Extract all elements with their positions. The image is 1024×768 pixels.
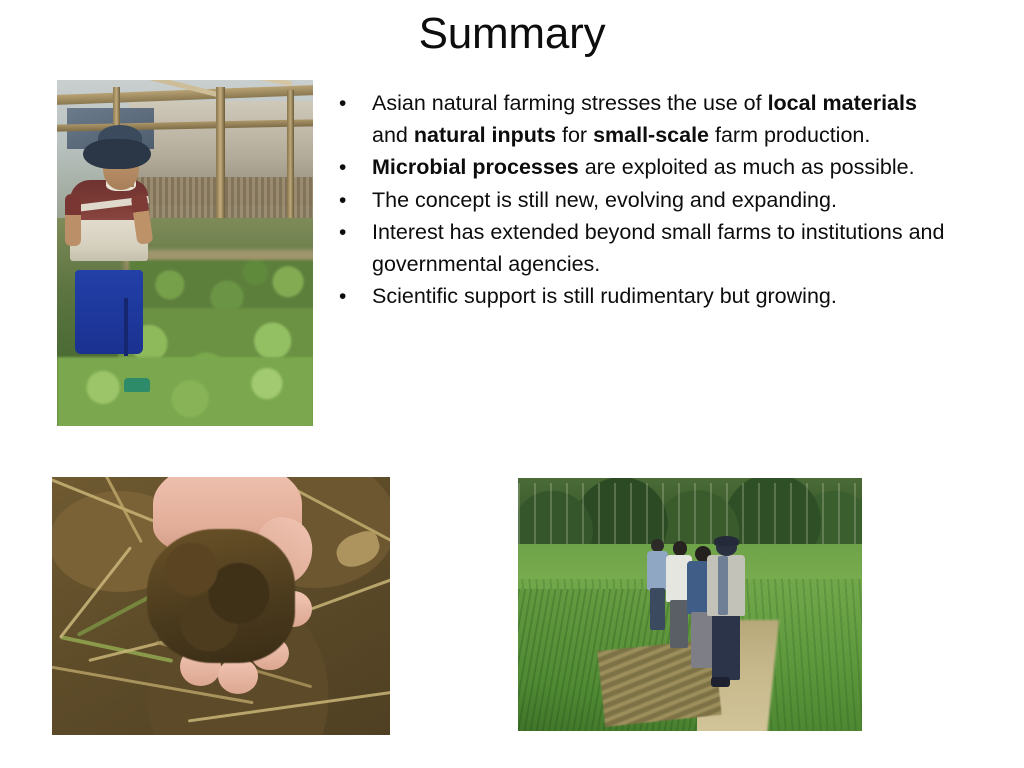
bullet-segment-bold: Microbial processes: [372, 155, 579, 179]
bullet-text: Scientific support is still rudimentary …: [372, 281, 958, 313]
hand-finger: [218, 658, 259, 694]
farmer-boot: [124, 378, 150, 392]
bullet-segment-bold: small-scale: [593, 123, 709, 147]
person-head: [651, 539, 664, 553]
list-item: • Scientific support is still rudimentar…: [334, 281, 958, 313]
vegetable-bed-front: [57, 357, 313, 426]
bullet-segment-bold: natural inputs: [414, 123, 556, 147]
image-rice-field-visit: [518, 478, 862, 731]
person-torso: [647, 551, 668, 589]
bullet-marker-icon: •: [334, 185, 372, 217]
person-shoe: [711, 677, 730, 687]
bullet-text: Asian natural farming stresses the use o…: [372, 88, 958, 151]
bullet-segment: farm production.: [709, 123, 870, 147]
person-head: [673, 541, 688, 556]
farmer-arm-left: [65, 194, 81, 246]
list-item: • Asian natural farming stresses the use…: [334, 88, 958, 151]
bullet-marker-icon: •: [334, 281, 372, 313]
bullet-list: • Asian natural farming stresses the use…: [334, 88, 958, 314]
bullet-marker-icon: •: [334, 217, 372, 249]
bullet-segment: The concept is still new, evolving and e…: [372, 188, 837, 212]
person-nearest: [707, 539, 745, 686]
image-compost-in-hand: [52, 477, 390, 735]
bullet-segment-bold: local materials: [768, 91, 917, 115]
tree-trunks: [518, 483, 862, 549]
person-cap: [714, 536, 739, 546]
bullet-segment: Interest has extended beyond small farms…: [372, 220, 944, 276]
compost-pile: [147, 529, 296, 663]
bullet-text: Microbial processes are exploited as muc…: [372, 152, 958, 184]
person-legs: [712, 614, 739, 680]
bullet-segment: Scientific support is still rudimentary …: [372, 284, 837, 308]
person-scarf: [718, 556, 728, 615]
farmer-hat-brim: [83, 139, 151, 169]
slide-bottom-margin: [0, 736, 1024, 768]
bullet-segment: and: [372, 123, 414, 147]
farmer-trouser-seam: [124, 298, 128, 356]
list-item: • The concept is still new, evolving and…: [334, 185, 958, 217]
list-item: • Microbial processes are exploited as m…: [334, 152, 958, 184]
page-title: Summary: [0, 6, 1024, 62]
person-legs: [650, 588, 665, 630]
farmer-trousers: [75, 270, 143, 354]
bullet-segment: Asian natural farming stresses the use o…: [372, 91, 768, 115]
bullet-segment: for: [556, 123, 593, 147]
bullet-text: Interest has extended beyond small farms…: [372, 217, 958, 280]
bullet-marker-icon: •: [334, 88, 372, 120]
list-item: • Interest has extended beyond small far…: [334, 217, 958, 280]
image-farmer-garden: [57, 80, 313, 426]
bullet-text: The concept is still new, evolving and e…: [372, 185, 958, 217]
bullet-marker-icon: •: [334, 152, 372, 184]
bullet-segment: are exploited as much as possible.: [579, 155, 915, 179]
